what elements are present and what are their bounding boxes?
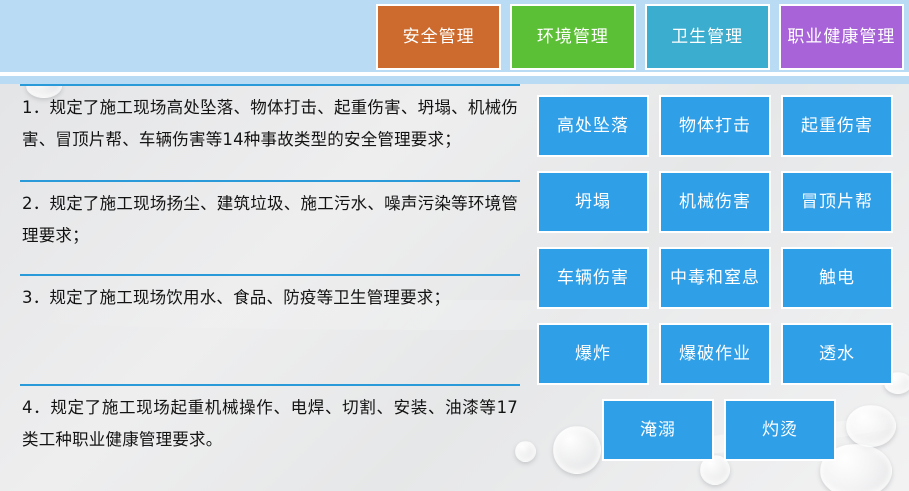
- list-item-text: 1．规定了施工现场高处坠落、物体打击、起重伤害、坍塌、机械伤害、冒顶片帮、车辆伤…: [22, 92, 518, 156]
- tab-hygiene-management[interactable]: 卫生管理: [645, 4, 770, 70]
- tile-scalding[interactable]: 灼烫: [724, 399, 836, 461]
- tile-label: 爆破作业: [679, 343, 751, 365]
- tile-collapse[interactable]: 坍塌: [537, 171, 649, 233]
- item-divider: [20, 84, 520, 86]
- accident-type-grid: 高处坠落 物体打击 起重伤害 坍塌 机械伤害 冒顶片帮 车辆伤害: [537, 95, 901, 475]
- content-list: 1．规定了施工现场高处坠落、物体打击、起重伤害、坍塌、机械伤害、冒顶片帮、车辆伤…: [0, 84, 530, 491]
- list-item-text: 3．规定了施工现场饮用水、食品、防疫等卫生管理要求；: [22, 282, 518, 314]
- tab-environment-management[interactable]: 环境管理: [510, 4, 635, 70]
- tile-explosion[interactable]: 爆炸: [537, 323, 649, 385]
- tile-blasting-operation[interactable]: 爆破作业: [659, 323, 771, 385]
- tile-label: 坍塌: [575, 191, 611, 213]
- tile-label: 起重伤害: [801, 115, 873, 137]
- tile-object-strike[interactable]: 物体打击: [659, 95, 771, 157]
- slide-canvas: 主要内容 安全管理 环境管理 卫生管理 职业健康管理 1．规定了施工现场高处坠落…: [0, 0, 909, 491]
- tile-vehicle-injury[interactable]: 车辆伤害: [537, 247, 649, 309]
- tab-label: 职业健康管理: [787, 26, 895, 49]
- grid-row: 高处坠落 物体打击 起重伤害: [537, 95, 901, 157]
- tile-label: 车辆伤害: [557, 267, 629, 289]
- tile-label: 透水: [819, 343, 855, 365]
- tab-label: 卫生管理: [671, 26, 743, 49]
- grid-row: 坍塌 机械伤害 冒顶片帮: [537, 171, 901, 233]
- tab-label: 环境管理: [537, 26, 609, 49]
- tile-label: 中毒和窒息: [670, 267, 760, 289]
- tile-label: 机械伤害: [679, 191, 751, 213]
- tile-label: 物体打击: [679, 115, 751, 137]
- tile-water-inrush[interactable]: 透水: [781, 323, 893, 385]
- grid-row: 车辆伤害 中毒和窒息 触电: [537, 247, 901, 309]
- header-underline-secondary: [0, 76, 909, 84]
- tile-label: 触电: [819, 267, 855, 289]
- tile-drowning[interactable]: 淹溺: [602, 399, 714, 461]
- item-divider: [20, 274, 520, 276]
- grid-row: 爆炸 爆破作业 透水: [537, 323, 901, 385]
- tile-label: 淹溺: [640, 419, 676, 441]
- tile-electric-shock[interactable]: 触电: [781, 247, 893, 309]
- tab-safety-management[interactable]: 安全管理: [376, 4, 501, 70]
- item-divider: [20, 180, 520, 182]
- list-item-text: 2．规定了施工现场扬尘、建筑垃圾、施工污水、噪声污染等环境管理要求；: [22, 188, 518, 252]
- tab-occupational-health-management[interactable]: 职业健康管理: [779, 4, 904, 70]
- tile-roof-fall[interactable]: 冒顶片帮: [781, 171, 893, 233]
- tab-label: 安全管理: [403, 26, 475, 49]
- tile-label: 高处坠落: [557, 115, 629, 137]
- tile-lifting-injury[interactable]: 起重伤害: [781, 95, 893, 157]
- tile-poisoning-asphyxiation[interactable]: 中毒和窒息: [659, 247, 771, 309]
- grid-row: 淹溺 灼烫: [537, 399, 901, 461]
- tile-label: 冒顶片帮: [801, 191, 873, 213]
- list-item-text: 4．规定了施工现场起重机械操作、电焊、切割、安装、油漆等17类工种职业健康管理要…: [22, 392, 518, 456]
- tile-fall-from-height[interactable]: 高处坠落: [537, 95, 649, 157]
- tile-label: 灼烫: [762, 419, 798, 441]
- tile-label: 爆炸: [575, 343, 611, 365]
- tile-mechanical-injury[interactable]: 机械伤害: [659, 171, 771, 233]
- item-divider: [20, 384, 520, 386]
- category-tabs: 安全管理 环境管理 卫生管理 职业健康管理: [376, 4, 904, 70]
